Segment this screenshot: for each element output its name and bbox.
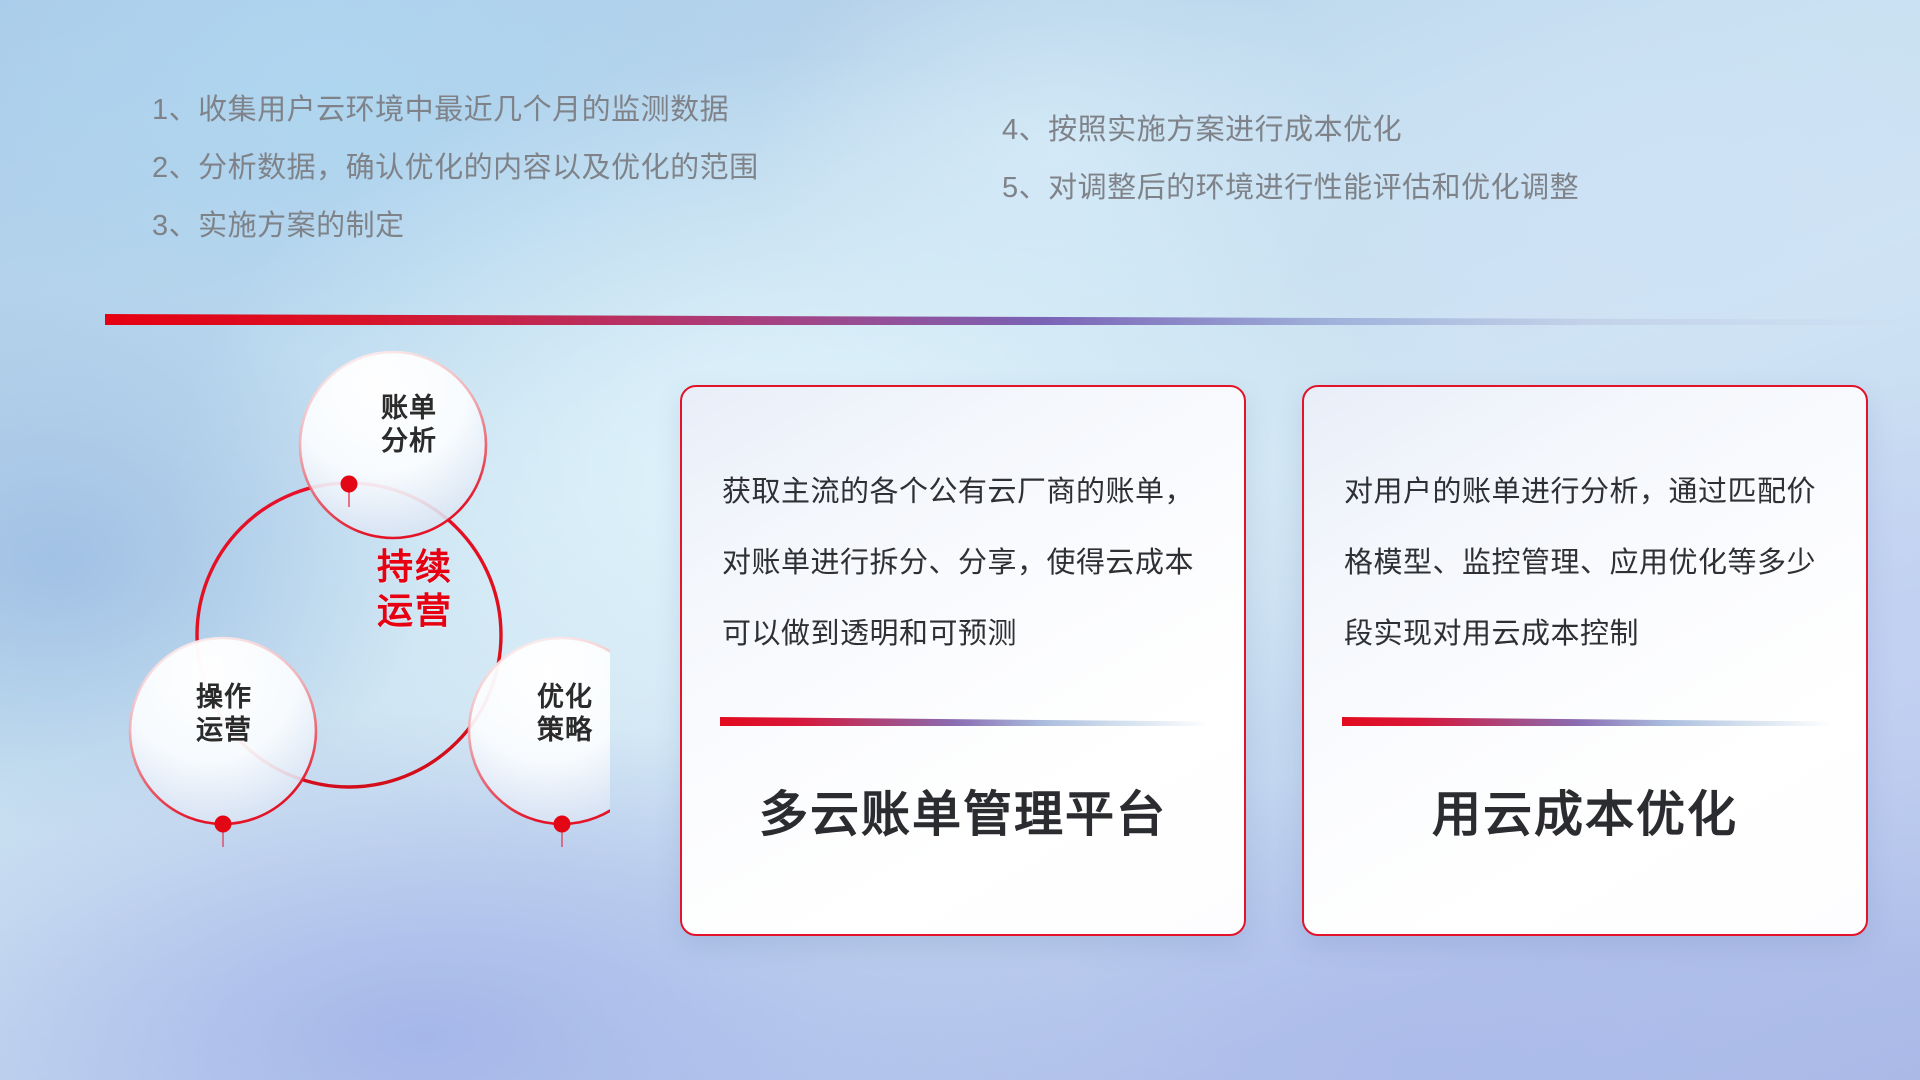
steps-section: 1、收集用户云环境中最近几个月的监测数据 2、分析数据，确认优化的内容以及优化的…	[0, 0, 1920, 300]
venn-bubble-operations	[130, 638, 316, 824]
card-multi-cloud-billing-platform[interactable]: 获取主流的各个公有云厂商的账单，对账单进行拆分、分享，使得云成本可以做到透明和可…	[680, 385, 1246, 936]
step-item-5: 5、对调整后的环境进行性能评估和优化调整	[1002, 174, 1579, 203]
steps-column-left: 1、收集用户云环境中最近几个月的监测数据 2、分析数据，确认优化的内容以及优化的…	[152, 96, 759, 270]
card-divider-rule	[720, 717, 1210, 726]
venn-diagram: 账单 分析 操作 运营 优化 策略 持续 运营	[90, 345, 610, 945]
venn-dot-right	[554, 816, 571, 833]
step-item-3: 3、实施方案的制定	[152, 212, 759, 241]
venn-bubble-optimization	[469, 638, 610, 824]
card-body-text: 对用户的账单进行分析，通过匹配价格模型、监控管理、应用优化等多少段实现对用云成本…	[1344, 457, 1830, 670]
venn-diagram-svg	[90, 345, 610, 945]
step-item-2: 2、分析数据，确认优化的内容以及优化的范围	[152, 154, 759, 183]
card-cloud-cost-optimization[interactable]: 对用户的账单进行分析，通过匹配价格模型、监控管理、应用优化等多少段实现对用云成本…	[1302, 385, 1868, 936]
card-divider-rule	[1342, 717, 1832, 726]
card-title: 多云账单管理平台	[682, 775, 1244, 846]
step-item-1: 1、收集用户云环境中最近几个月的监测数据	[152, 96, 759, 125]
venn-bubble-bill-analysis	[300, 352, 486, 538]
step-item-4: 4、按照实施方案进行成本优化	[1002, 116, 1579, 145]
steps-column-right: 4、按照实施方案进行成本优化 5、对调整后的环境进行性能评估和优化调整	[1002, 116, 1579, 232]
venn-dot-top	[341, 476, 358, 493]
card-body-text: 获取主流的各个公有云厂商的账单，对账单进行拆分、分享，使得云成本可以做到透明和可…	[722, 457, 1208, 670]
venn-dot-left	[215, 816, 232, 833]
card-title: 用云成本优化	[1304, 775, 1866, 846]
feature-cards: 获取主流的各个公有云厂商的账单，对账单进行拆分、分享，使得云成本可以做到透明和可…	[680, 385, 1890, 945]
